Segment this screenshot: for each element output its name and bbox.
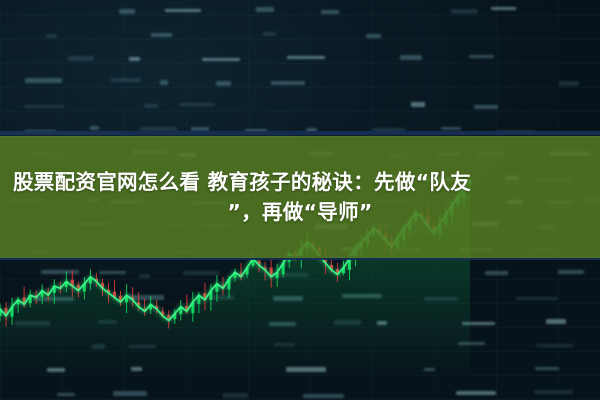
headline-line-2: ”，再做“导师” — [13, 197, 587, 227]
headline-line-1: 股票配资官网怎么看 教育孩子的秘诀：先做“队友 — [13, 167, 587, 197]
headline-band: 股票配资官网怎么看 教育孩子的秘诀：先做“队友 ”，再做“导师” — [0, 136, 600, 258]
band-separator-top — [0, 131, 600, 135]
page-title: 股票配资官网怎么看 教育孩子的秘诀：先做“队友 ”，再做“导师” — [7, 167, 593, 227]
stock-article-banner: 股票配资官网怎么看 教育孩子的秘诀：先做“队友 ”，再做“导师” — [0, 0, 600, 400]
